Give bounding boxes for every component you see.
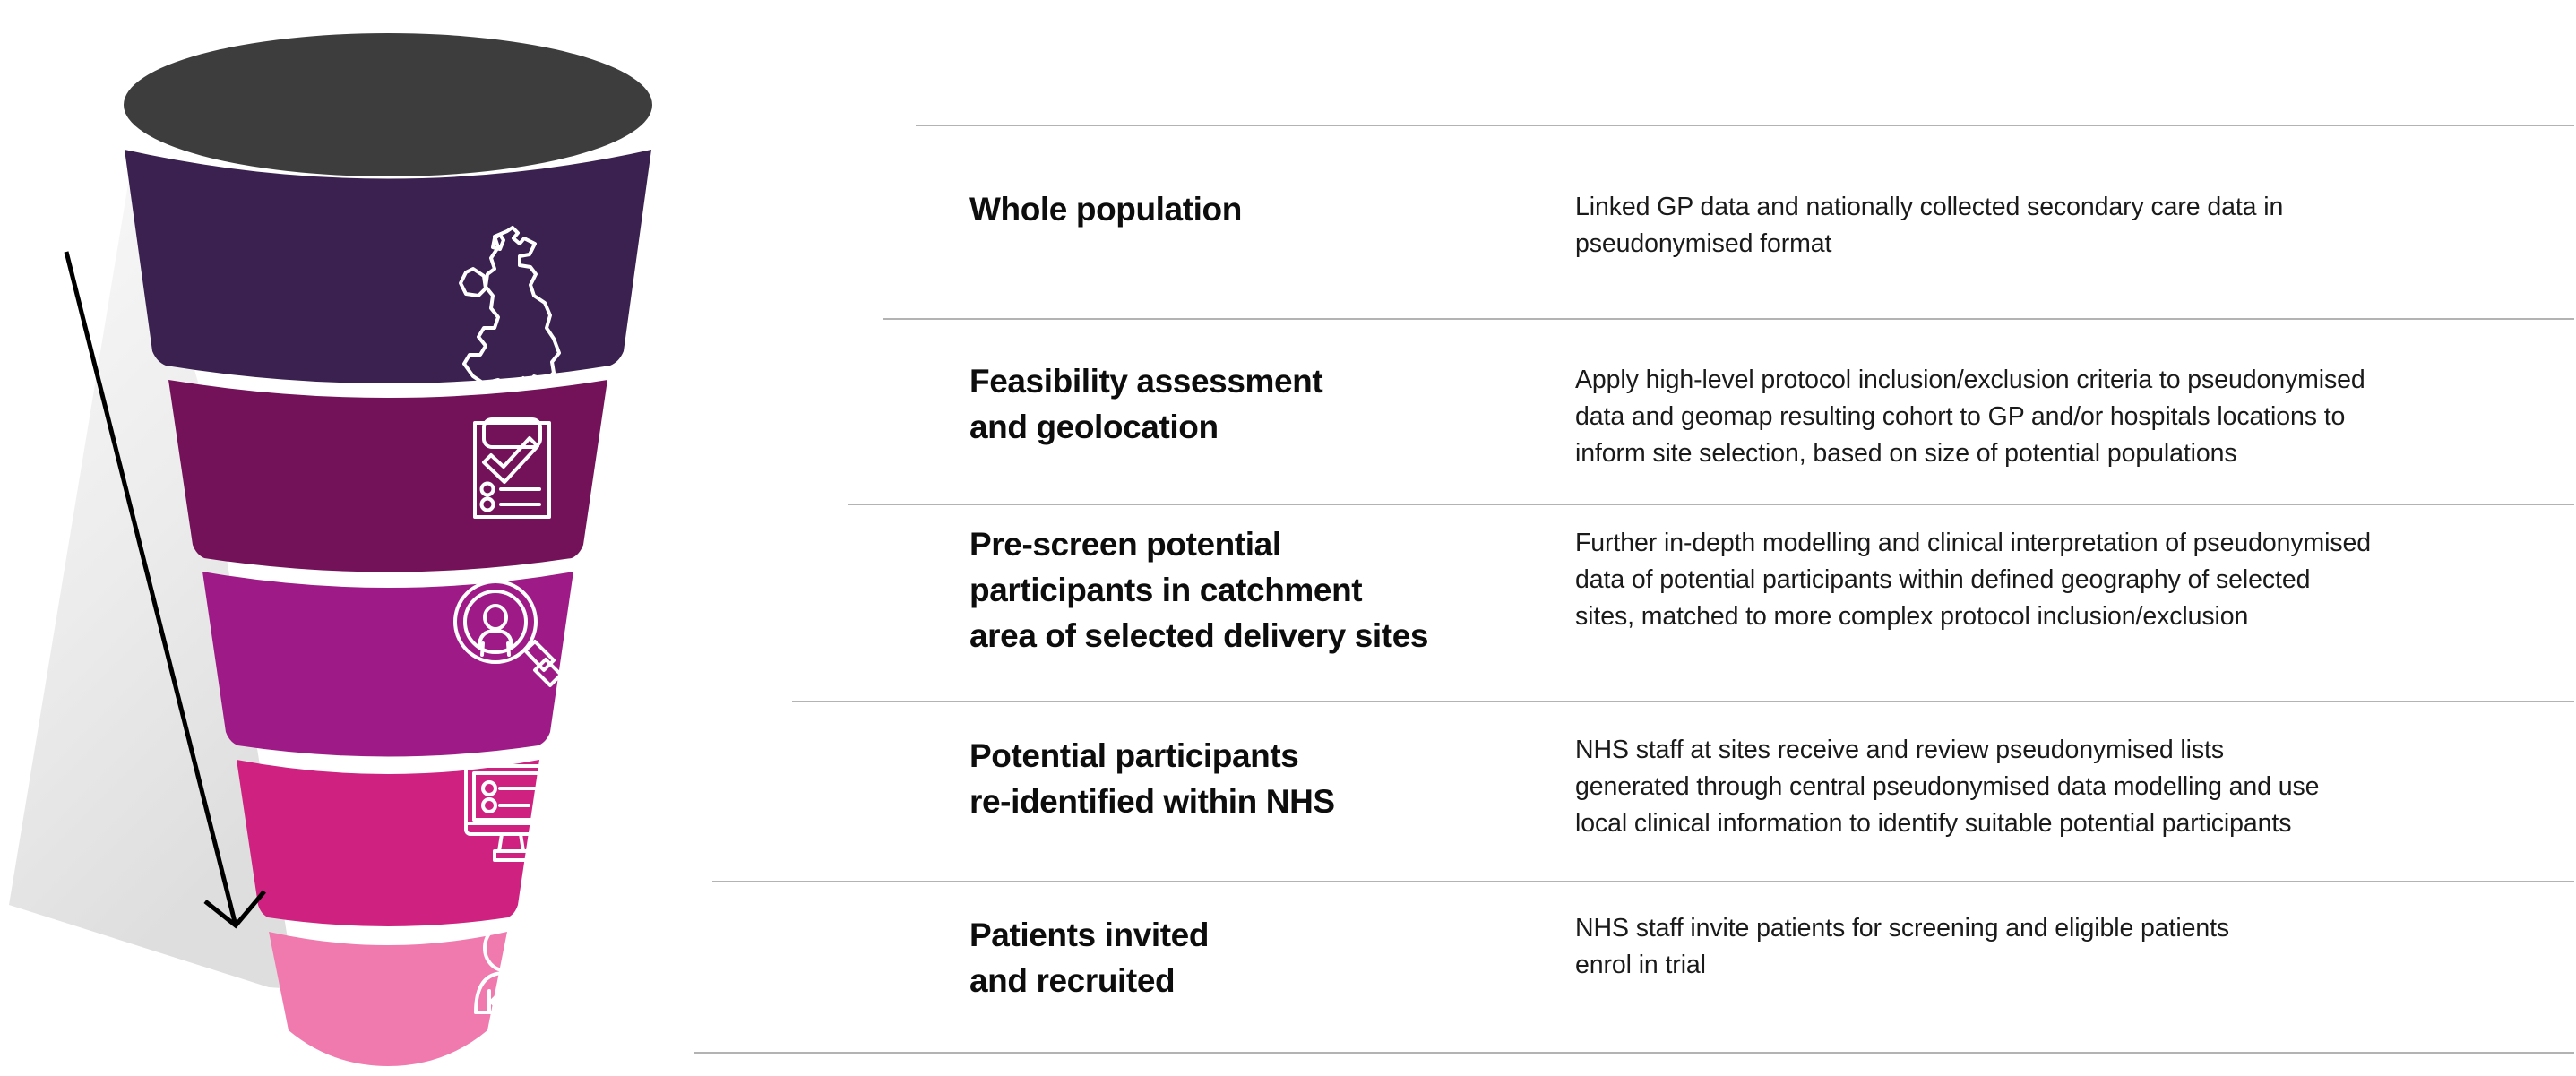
row-title-5: Patients invited and recruited [969,912,1561,1003]
row-divider-1 [916,125,2574,126]
row-divider-5 [712,881,2574,882]
row-description-4: NHS staff at sites receive and review ps… [1575,732,2570,842]
row-description-1: Linked GP data and nationally collected … [1575,189,2552,263]
funnel-opening-ellipse [124,33,652,176]
row-divider-4 [792,701,2574,702]
row-title-3: Pre-screen potential participants in cat… [969,521,1633,659]
row-description-2: Apply high-level protocol inclusion/excl… [1575,362,2561,472]
row-divider-6 [694,1052,2574,1054]
funnel-band-1 [124,33,652,383]
row-description-3: Further in-depth modelling and clinical … [1575,525,2570,635]
funnel-band-5 [269,932,507,1066]
funnel-infographic: Whole population Linked GP data and nati… [0,0,2576,1076]
row-description-5: NHS staff invite patients for screening … [1575,910,2552,984]
row-divider-3 [848,504,2574,505]
row-title-2: Feasibility assessment and geolocation [969,358,1597,450]
funnel-graphic [0,0,950,1076]
funnel-band-2 [168,380,607,572]
row-divider-2 [883,318,2574,320]
row-title-1: Whole population [969,186,1561,232]
row-title-4: Potential participants re-identified wit… [969,733,1597,824]
